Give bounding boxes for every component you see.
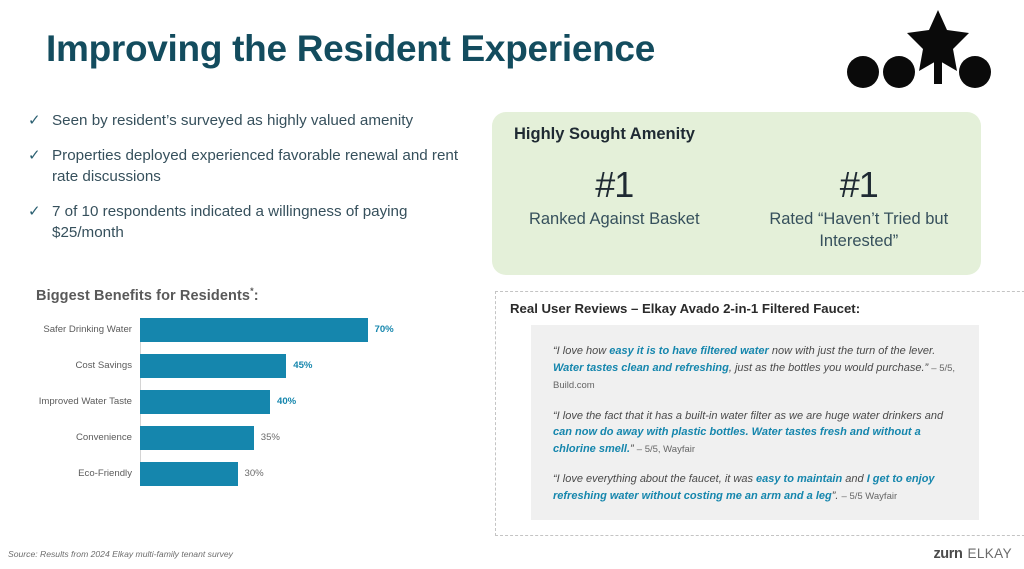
list-item-label: Seen by resident’s surveyed as highly va… [52, 110, 413, 131]
logo-zurn-text: zurn [933, 546, 962, 562]
chart-bar [140, 318, 368, 342]
chart-bar-label: Cost Savings [0, 360, 132, 371]
star-arrow-dots-icon [843, 8, 993, 88]
reviews-heading: Real User Reviews – Elkay Avado 2-in-1 F… [510, 301, 860, 316]
chart-bar-value: 40% [277, 396, 296, 407]
amenity-card-title: Highly Sought Amenity [514, 125, 695, 144]
stat-caption: Rated “Haven’t Tried but Interested” [751, 208, 968, 252]
review-quote: “I love everything about the faucet, it … [553, 471, 957, 505]
list-item: ✓ Seen by resident’s surveyed as highly … [28, 110, 480, 131]
stat-number: #1 [506, 164, 723, 206]
chart-bar-label: Safer Drinking Water [0, 324, 132, 335]
review-text: ”. [832, 490, 842, 502]
slide-root: Improving the Resident Experience ✓ Seen… [0, 0, 1024, 569]
page-title: Improving the Resident Experience [46, 28, 655, 70]
chart-title-text: Biggest Benefits for Residents [36, 288, 250, 304]
chart-bar-label: Convenience [0, 432, 132, 443]
review-text: “I love the fact that it has a built-in … [553, 410, 943, 422]
chart-bar [140, 426, 254, 450]
chart-title: Biggest Benefits for Residents*: [36, 286, 456, 304]
reviews-panel: “I love how easy it is to have filtered … [531, 325, 979, 520]
review-text: ” [630, 443, 637, 455]
chart-bar [140, 390, 270, 414]
stat-block: #1 Ranked Against Basket [492, 164, 737, 252]
list-item: ✓ 7 of 10 respondents indicated a willin… [28, 201, 480, 243]
review-highlight: Water tastes clean and refreshing [553, 362, 729, 374]
review-quote: “I love the fact that it has a built-in … [553, 408, 957, 459]
chart-plot-area: Safer Drinking Water70%Cost Savings45%Im… [36, 318, 456, 486]
stat-number: #1 [751, 164, 968, 206]
logo-elkay-text: ELKAY [967, 546, 1012, 561]
review-quote: “I love how easy it is to have filtered … [553, 343, 957, 395]
real-user-reviews-section: Real User Reviews – Elkay Avado 2-in-1 F… [495, 291, 1024, 536]
chart-bar-value: 70% [375, 324, 394, 335]
chart-bar-row: Eco-Friendly30% [140, 462, 456, 486]
chart-bar-row: Convenience35% [140, 426, 456, 450]
source-note: Source: Results from 2024 Elkay multi-fa… [8, 549, 233, 559]
review-highlight: can now do away with plastic bottles. Wa… [553, 426, 921, 455]
check-icon: ✓ [28, 145, 52, 166]
stat-caption: Ranked Against Basket [506, 208, 723, 230]
chart-bar-row: Cost Savings45% [140, 354, 456, 378]
review-text: and [842, 473, 866, 485]
key-points-list: ✓ Seen by resident’s surveyed as highly … [28, 110, 480, 257]
chart-bar [140, 354, 286, 378]
benefits-bar-chart: Biggest Benefits for Residents*: Safer D… [36, 286, 456, 498]
chart-title-superscript: * [250, 286, 254, 296]
review-text: , just as the bottles you would purchase… [729, 362, 931, 374]
chart-bar-value: 35% [261, 432, 280, 443]
review-highlight: easy to maintain [756, 473, 842, 485]
chart-bar-value: 30% [245, 468, 264, 479]
stat-block: #1 Rated “Haven’t Tried but Interested” [737, 164, 982, 252]
review-text: “I love everything about the faucet, it … [553, 473, 756, 485]
check-icon: ✓ [28, 201, 52, 222]
check-icon: ✓ [28, 110, 52, 131]
chart-bar-row: Safer Drinking Water70% [140, 318, 456, 342]
review-source: – 5/5, Wayfair [637, 444, 695, 455]
chart-bar [140, 462, 238, 486]
review-highlight: easy it is to have filtered water [609, 345, 769, 357]
chart-bar-row: Improved Water Taste40% [140, 390, 456, 414]
list-item-label: 7 of 10 respondents indicated a willingn… [52, 201, 480, 243]
list-item: ✓ Properties deployed experienced favora… [28, 145, 480, 187]
review-text: now with just the turn of the lever. [769, 345, 936, 357]
list-item-label: Properties deployed experienced favorabl… [52, 145, 480, 187]
review-source: – 5/5 Wayfair [842, 491, 898, 502]
chart-bar-label: Eco-Friendly [0, 468, 132, 479]
chart-bar-value: 45% [293, 360, 312, 371]
amenity-stats-row: #1 Ranked Against Basket #1 Rated “Haven… [492, 164, 981, 252]
zurn-elkay-logo: zurn ELKAY [933, 546, 1012, 562]
review-text: “I love how [553, 345, 609, 357]
highly-sought-amenity-card: Highly Sought Amenity #1 Ranked Against … [492, 112, 981, 275]
chart-bar-label: Improved Water Taste [0, 396, 132, 407]
